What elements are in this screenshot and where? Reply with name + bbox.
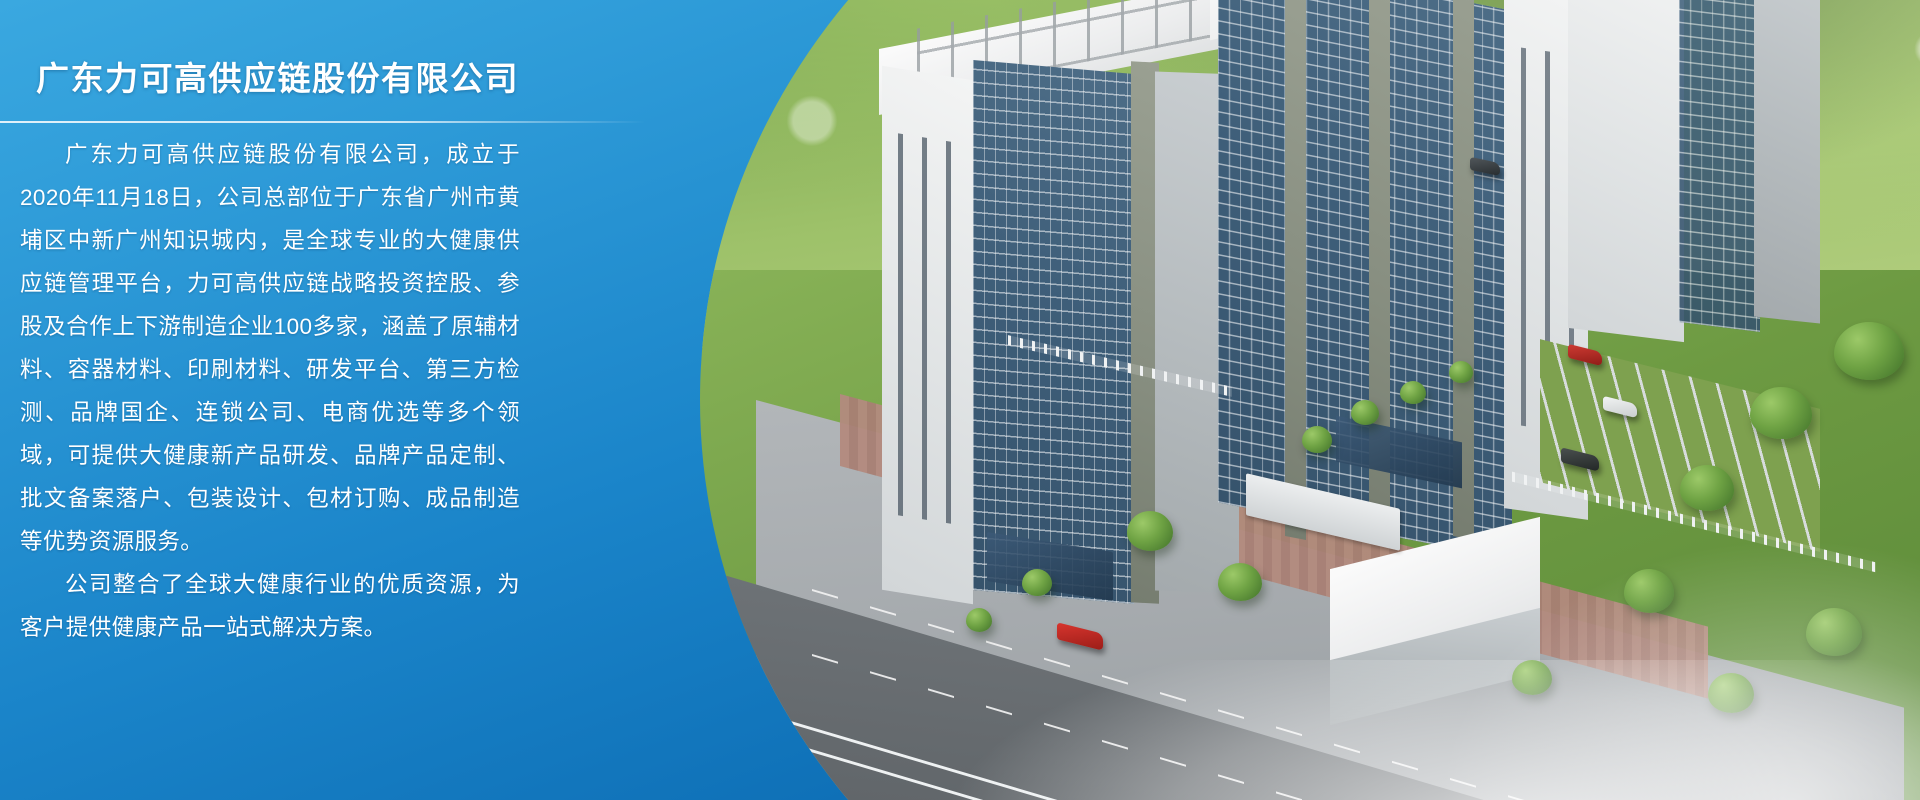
street-tree [1127,511,1173,551]
background-block-wall [1568,0,1684,342]
garden-tree [1680,465,1734,511]
page-title: 广东力可高供应链股份有限公司 [36,52,636,100]
shrub [1302,426,1332,453]
photo-inner [700,0,1920,800]
shrub [1449,361,1473,383]
title-divider [0,121,645,123]
street-tree [1218,563,1262,601]
industrial-park-aerial-photo [700,0,1920,800]
factory-pier-1 [1285,0,1306,539]
paragraph-2: 公司整合了全球大健康行业的优质资源，为客户提供健康产品一站式解决方案。 [20,563,520,649]
shrub [1022,569,1052,596]
shrub [1400,381,1426,404]
background-block-side [1754,0,1820,323]
background-block [1568,0,1820,335]
shrub [966,608,992,632]
garden-tree [1834,322,1904,380]
company-profile-banner: 广东力可高供应链股份有限公司 广东力可高供应链股份有限公司，成立于2020年11… [0,0,1920,800]
tower-glass-curtain-wall [973,60,1134,604]
office-tower [882,62,1232,608]
tower-side-window-slits [889,132,966,526]
text-column: 广东力可高供应链股份有限公司 广东力可高供应链股份有限公司，成立于2020年11… [0,0,660,800]
atmospheric-haze [952,660,1920,800]
paragraph-1: 广东力可高供应链股份有限公司，成立于2020年11月18日，公司总部位于广东省广… [20,133,520,563]
background-block-glass [1679,0,1760,332]
shrub [1351,400,1379,425]
company-description: 广东力可高供应链股份有限公司，成立于2020年11月18日，公司总部位于广东省广… [20,133,520,649]
garden-tree [1750,387,1812,439]
